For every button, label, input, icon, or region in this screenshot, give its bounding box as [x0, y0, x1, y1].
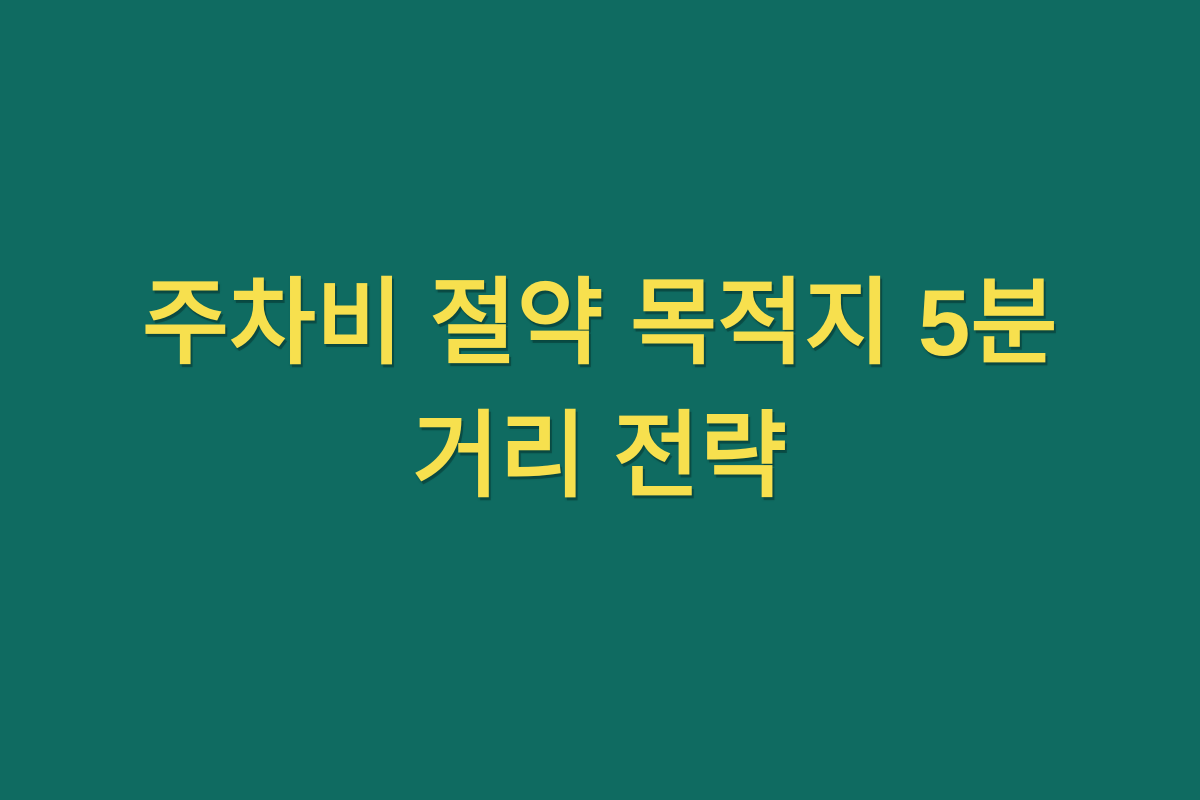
thumbnail-canvas: 주차비 절약 목적지 5분 거리 전략: [0, 0, 1200, 800]
headline-line-1: 주차비 절약 목적지 5분: [70, 256, 1130, 389]
headline-line-2: 거리 전략: [70, 389, 1130, 522]
headline-block: 주차비 절약 목적지 5분 거리 전략: [70, 256, 1130, 523]
